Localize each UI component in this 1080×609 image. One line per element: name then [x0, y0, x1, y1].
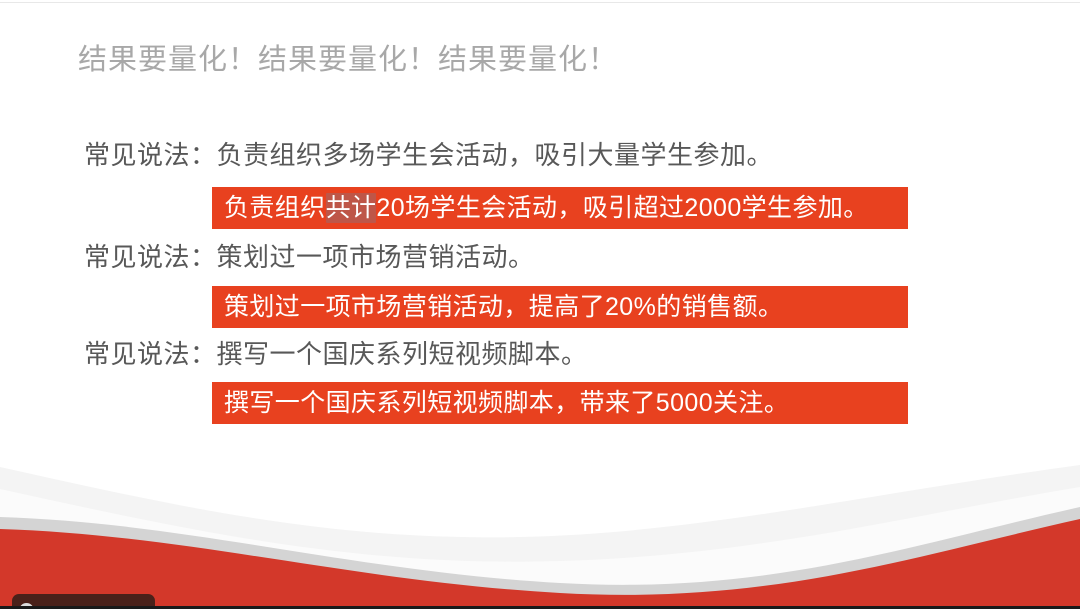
improved-text-part-after-1: 20场学生会活动，吸引超过2000学生参加。: [376, 194, 868, 222]
improved-phrase-text-3: 撰写一个国庆系列短视频脚本，带来了5000关注。: [224, 382, 789, 424]
common-phrase-label-2: 常见说法：策划过一项市场营销活动。: [84, 238, 535, 276]
improved-phrase-text-2: 策划过一项市场营销活动，提高了20%的销售额。: [224, 286, 783, 328]
slide-top-divider: [0, 2, 1080, 3]
improved-phrase-text-1: 负责组织共计20场学生会活动，吸引超过2000学生参加。: [224, 187, 869, 229]
improved-phrase-bar-3: 撰写一个国庆系列短视频脚本，带来了5000关注。: [212, 382, 908, 424]
text-selection-highlight[interactable]: 共计: [326, 193, 377, 223]
page-title: 结果要量化！结果要量化！结果要量化！: [78, 40, 618, 80]
improved-text-part-before-1: 负责组织: [224, 194, 326, 222]
common-phrase-label-3: 常见说法：撰写一个国庆系列短视频脚本。: [84, 335, 588, 373]
improved-phrase-bar-1: 负责组织共计20场学生会活动，吸引超过2000学生参加。: [212, 187, 908, 229]
presentation-slide: 结果要量化！结果要量化！结果要量化！ 常见说法：负责组织多场学生会活动，吸引大量…: [0, 0, 1080, 609]
decorative-wave-footer: [0, 449, 1080, 609]
common-phrase-label-1: 常见说法：负责组织多场学生会活动，吸引大量学生参加。: [84, 136, 773, 174]
improved-phrase-bar-2: 策划过一项市场营销活动，提高了20%的销售额。: [212, 286, 908, 328]
